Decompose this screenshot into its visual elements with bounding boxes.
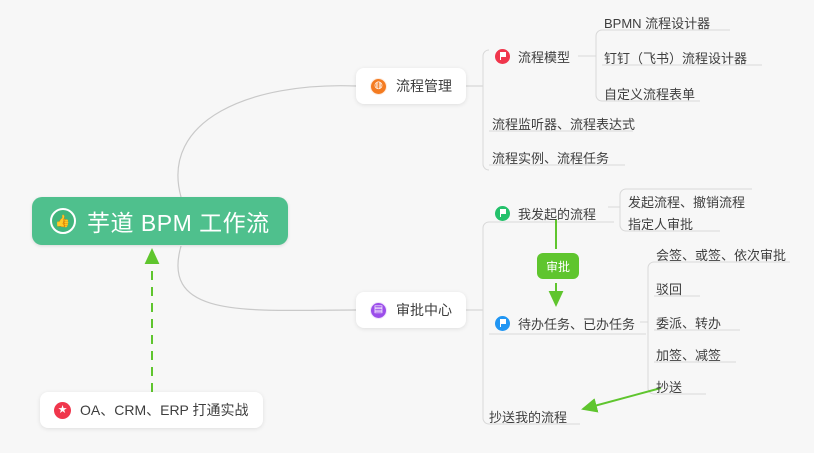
node-my-started-process-label: 我发起的流程 xyxy=(518,204,596,223)
leaf-carbon-copy-label: 抄送 xyxy=(656,377,682,396)
edge-mysp-trunk-top xyxy=(620,189,626,195)
leaf-bpmn-designer-label: BPMN 流程设计器 xyxy=(604,13,710,32)
leaf-process-listener[interactable]: 流程监听器、流程表达式 xyxy=(492,112,635,134)
edge-pm-trunk-bottom xyxy=(483,160,489,170)
edge-pmodel-trunk-top xyxy=(596,30,602,36)
edge-ac-trunk-top xyxy=(483,222,489,228)
leaf-countersign-label: 会签、或签、依次审批 xyxy=(656,245,786,264)
leaf-cc-to-me-process-label: 抄送我的流程 xyxy=(489,407,567,426)
leaf-start-cancel-process-label: 发起流程、撤销流程 xyxy=(628,192,745,211)
leaf-start-cancel-process[interactable]: 发起流程、撤销流程 xyxy=(628,190,745,212)
root-node[interactable]: 👍 芋道 BPM 工作流 xyxy=(32,197,288,245)
node-todo-done-tasks[interactable]: 待办任务、已办任务 xyxy=(495,312,635,334)
leaf-delegate-transfer[interactable]: 委派、转办 xyxy=(656,311,721,333)
bottom-note-node[interactable]: ★ OA、CRM、ERP 打通实战 xyxy=(40,392,263,428)
leaf-bpmn-designer[interactable]: BPMN 流程设计器 xyxy=(604,11,710,33)
approval-badge-label: 审批 xyxy=(546,258,570,275)
leaf-assignee-approval-label: 指定人审批 xyxy=(628,214,693,233)
leaf-assignee-approval[interactable]: 指定人审批 xyxy=(628,212,693,234)
edge-pm-trunk-top xyxy=(483,50,489,60)
edge-todo-trunk-top xyxy=(648,262,654,268)
leaf-carbon-copy[interactable]: 抄送 xyxy=(656,375,682,397)
flag-icon xyxy=(495,49,510,64)
leaf-process-listener-label: 流程监听器、流程表达式 xyxy=(492,114,635,133)
branch-approval-center[interactable]: ▤ 审批中心 xyxy=(356,292,466,328)
branch-process-management[interactable]: ◍ 流程管理 xyxy=(356,68,466,104)
leaf-delegate-transfer-label: 委派、转办 xyxy=(656,313,721,332)
flag-icon xyxy=(495,316,510,331)
arrow-cc-to-process xyxy=(583,388,661,409)
leaf-countersign[interactable]: 会签、或签、依次审批 xyxy=(656,243,786,265)
thumbs-up-icon: 👍 xyxy=(50,208,76,234)
leaf-custom-process-form[interactable]: 自定义流程表单 xyxy=(604,82,695,104)
leaf-reject[interactable]: 驳回 xyxy=(656,277,682,299)
leaf-process-instance-label: 流程实例、流程任务 xyxy=(492,148,609,167)
edge-root-to-approval-center xyxy=(178,246,356,310)
flag-icon xyxy=(495,206,510,221)
leaf-reject-label: 驳回 xyxy=(656,279,682,298)
edge-root-to-process-management xyxy=(178,86,356,197)
clipboard-icon: ▤ xyxy=(370,302,387,319)
leaf-cc-to-me-process[interactable]: 抄送我的流程 xyxy=(489,405,567,427)
edge-mysp-trunk-bottom xyxy=(620,225,626,231)
branch-approval-center-label: 审批中心 xyxy=(396,300,452,320)
mindmap-canvas: 👍 芋道 BPM 工作流 ★ OA、CRM、ERP 打通实战 ◍ 流程管理 流程… xyxy=(0,0,814,453)
node-my-started-process[interactable]: 我发起的流程 xyxy=(495,202,596,224)
edge-pmodel-trunk-bottom xyxy=(596,95,602,101)
leaf-add-remove-sign-label: 加签、减签 xyxy=(656,345,721,364)
node-process-model-label: 流程模型 xyxy=(518,47,570,66)
bottom-note-label: OA、CRM、ERP 打通实战 xyxy=(80,400,249,420)
node-process-model[interactable]: 流程模型 xyxy=(495,45,570,67)
leaf-custom-process-form-label: 自定义流程表单 xyxy=(604,84,695,103)
leaf-add-remove-sign[interactable]: 加签、减签 xyxy=(656,343,721,365)
leaf-dingtalk-designer[interactable]: 钉钉（飞书）流程设计器 xyxy=(604,46,747,68)
leaf-dingtalk-designer-label: 钉钉（飞书）流程设计器 xyxy=(604,48,747,67)
leaf-process-instance[interactable]: 流程实例、流程任务 xyxy=(492,146,609,168)
star-icon: ★ xyxy=(54,402,71,419)
edge-todo-trunk-bottom xyxy=(648,388,654,394)
branch-process-management-label: 流程管理 xyxy=(396,76,452,96)
root-label: 芋道 BPM 工作流 xyxy=(87,204,270,238)
approval-badge: 审批 xyxy=(537,253,579,279)
lightbulb-icon: ◍ xyxy=(370,78,387,95)
node-todo-done-tasks-label: 待办任务、已办任务 xyxy=(518,314,635,333)
